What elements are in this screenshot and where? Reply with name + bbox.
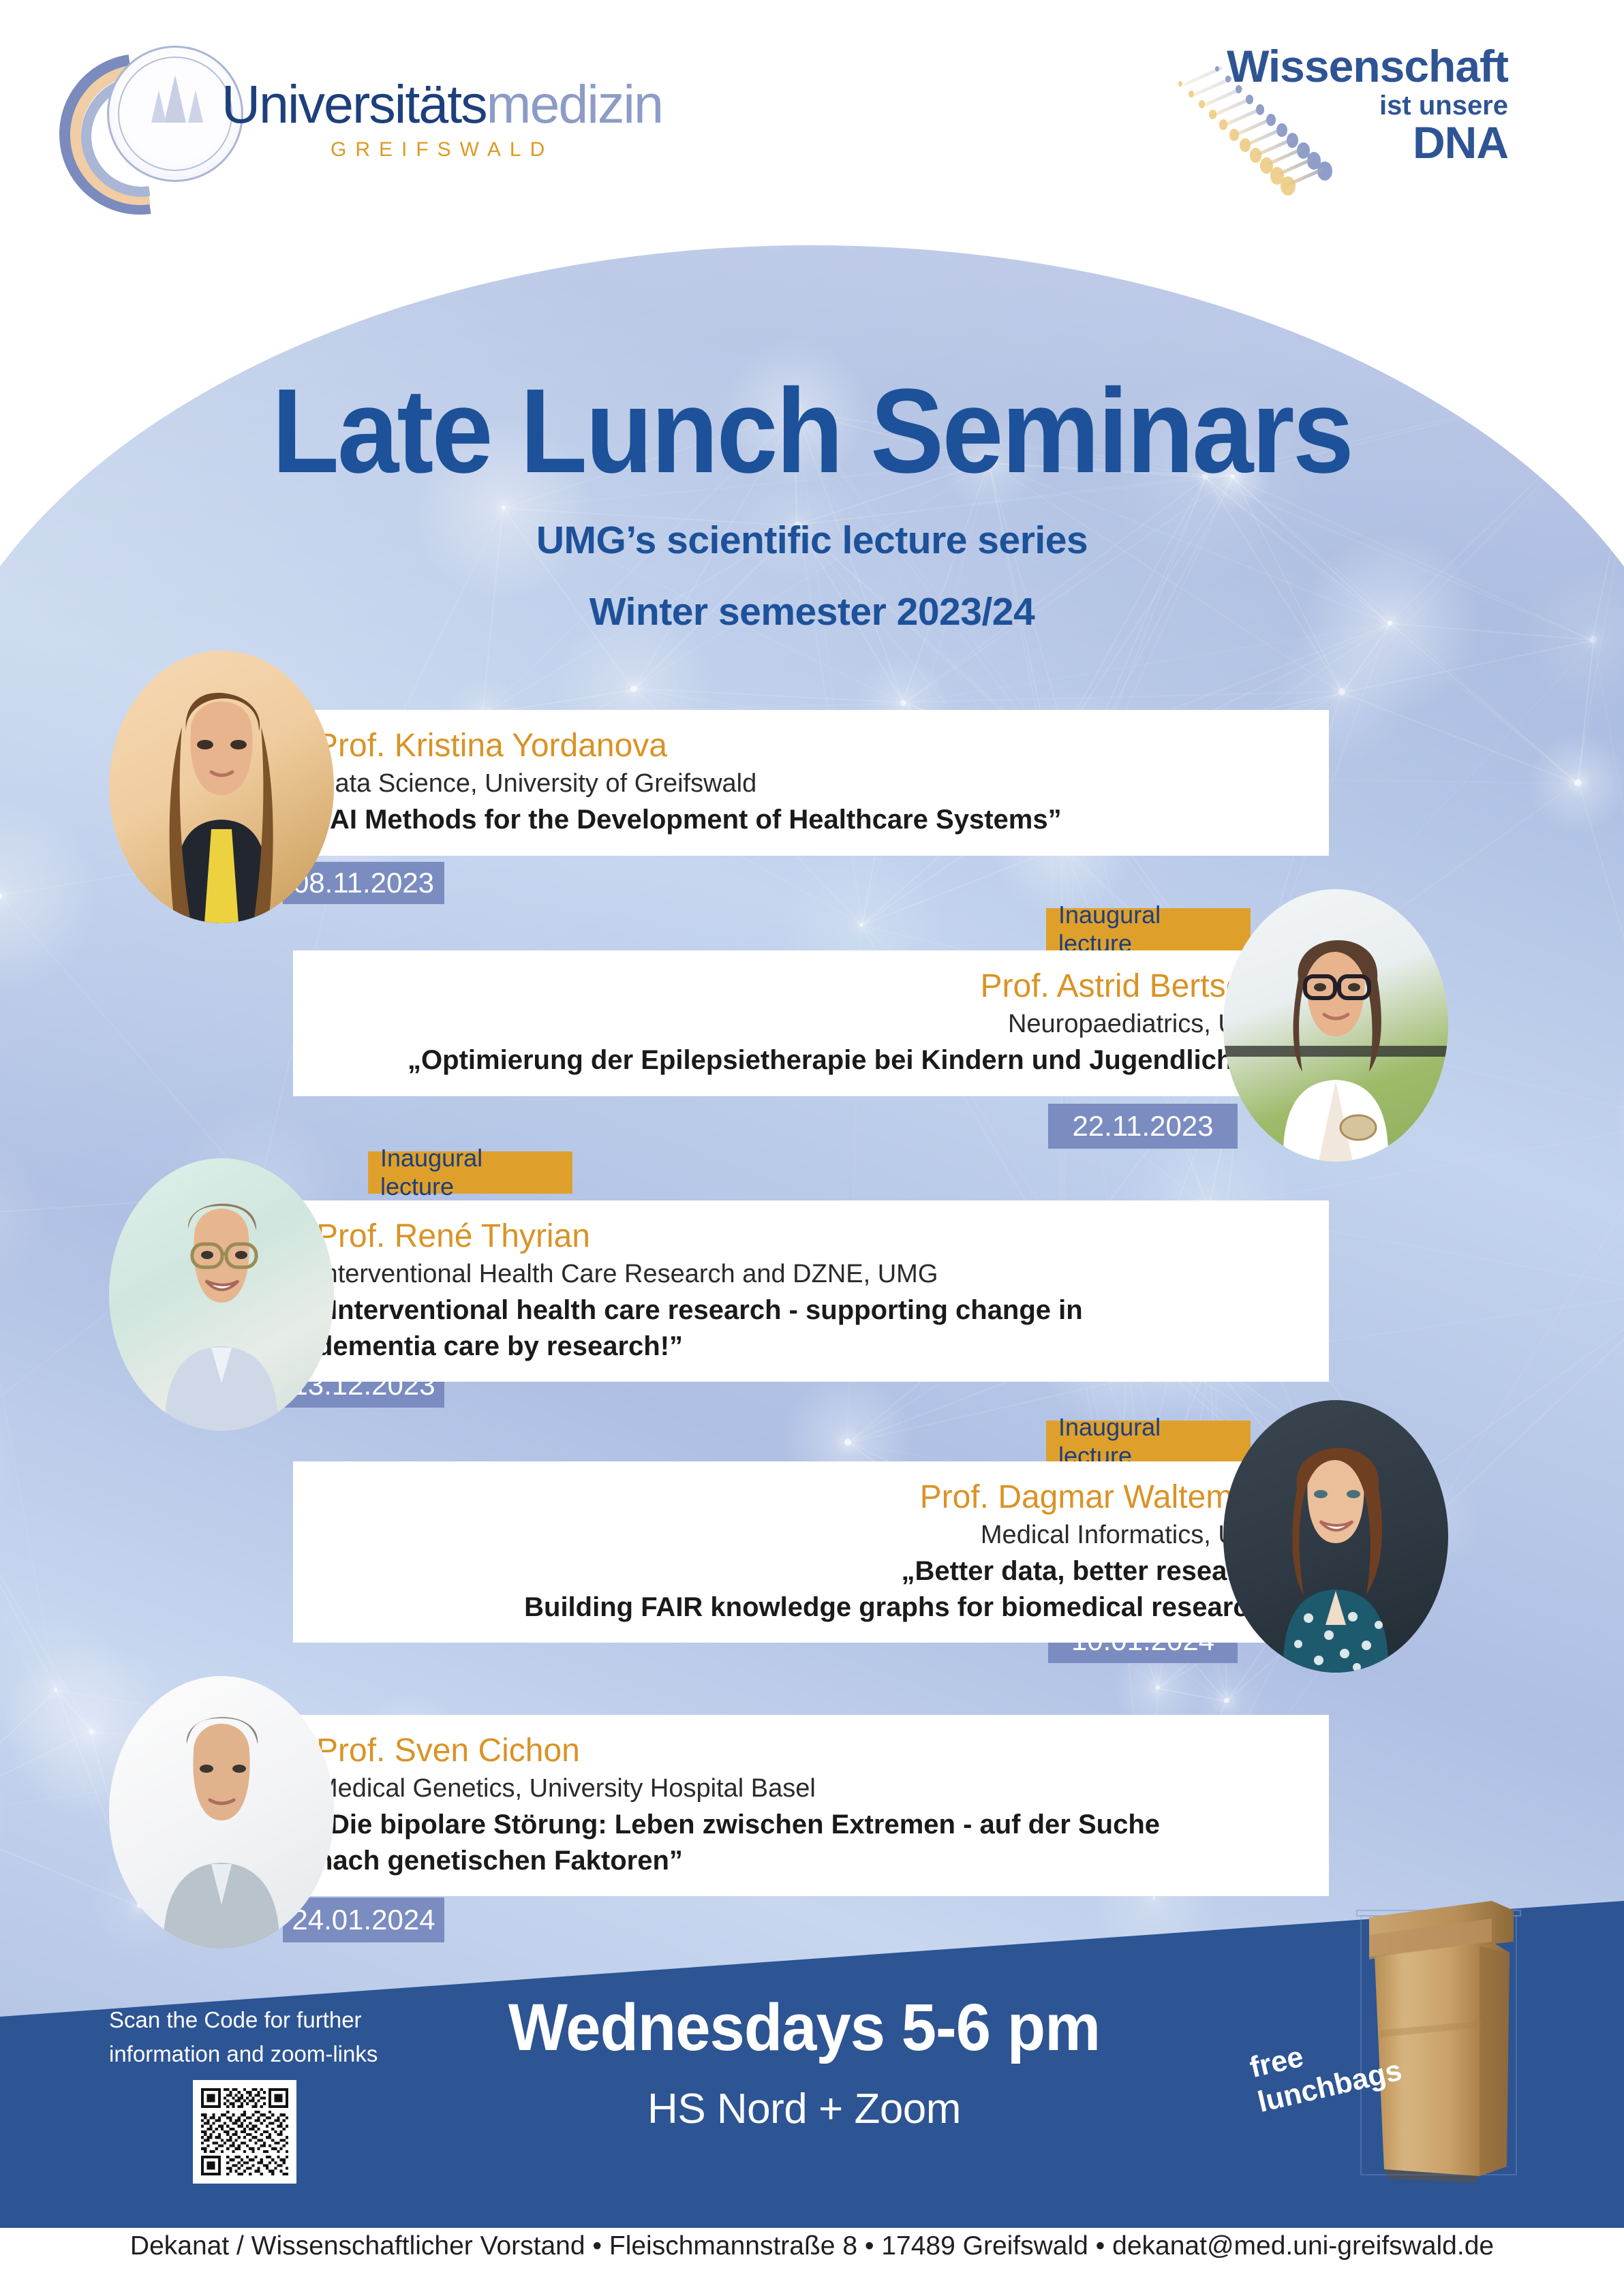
speaker-talk-title-line1: „Interventional health care research - s… — [316, 1292, 1299, 1329]
schedule-time: Wednesdays 5-6 pm — [448, 1989, 1161, 2066]
speaker-talk-title: “AI Methods for the Development of Healt… — [316, 802, 1299, 838]
dna-line3: DNA — [1413, 117, 1508, 168]
speaker-name: Prof. Sven Cichon — [316, 1730, 1299, 1771]
speaker-card-1: Prof. Kristina Yordanova Data Science, U… — [286, 710, 1329, 856]
inaugural-badge-4: Inaugural lecture — [1046, 1421, 1251, 1463]
dna-helix-icon — [1180, 78, 1330, 187]
inaugural-badge-3: Inaugural lecture — [368, 1151, 572, 1194]
umg-logo-part2: medizin — [487, 74, 662, 134]
network-node — [859, 923, 863, 927]
scan-line1: Scan the Code for further — [109, 2003, 395, 2037]
schedule-venue: HS Nord + Zoom — [429, 2085, 1179, 2133]
portrait-speaker-1 — [109, 651, 334, 923]
speaker-talk-title-line2: nach genetischen Faktoren” — [316, 1843, 1299, 1879]
date-badge-2: 22.11.2023 — [1048, 1104, 1238, 1149]
dna-line1: Wissenschaft — [1227, 40, 1508, 92]
speaker-card-3: Prof. René Thyrian Interventional Health… — [286, 1200, 1329, 1382]
dna-claim-logo: Wissenschaft ist unsere DNA — [1173, 37, 1548, 187]
speaker-talk-title: „Optimierung der Epilepsietherapie bei K… — [323, 1042, 1278, 1079]
network-glow — [1518, 564, 1624, 715]
umg-logo-part1: Universitäts — [221, 74, 487, 134]
speaker-affiliation: Neuropaediatrics, UMG — [323, 1007, 1278, 1042]
dna-dot-gold — [1178, 81, 1182, 87]
contact-footer: Dekanat / Wissenschaftlicher Vorstand • … — [0, 2231, 1624, 2261]
portrait-speaker-3 — [109, 1158, 334, 1431]
speaker-card-2: Prof. Astrid Bertsche Neuropaediatrics, … — [293, 950, 1308, 1096]
speaker-talk-title-line1: „Better data, better research: — [323, 1553, 1278, 1589]
network-glow — [1570, 294, 1624, 452]
network-node — [502, 506, 506, 510]
speaker-name: Prof. Kristina Yordanova — [316, 725, 1299, 766]
scan-line2: information and zoom-links — [109, 2037, 395, 2071]
speaker-name: Prof. René Thyrian — [316, 1215, 1299, 1257]
qr-code-icon — [198, 2085, 291, 2178]
speaker-name: Prof. Astrid Bertsche — [323, 965, 1278, 1007]
network-line — [1578, 782, 1624, 1121]
umg-logo-wordmark: Universitätsmedizin — [221, 77, 662, 131]
umg-logo: Universitätsmedizin GREIFSWALD — [65, 51, 555, 181]
network-glow — [1611, 1055, 1624, 1188]
umg-logo-city: GREIFSWALD — [331, 138, 553, 161]
network-node — [1224, 1698, 1229, 1703]
speaker-affiliation: Interventional Health Care Research and … — [316, 1257, 1299, 1292]
speaker-card-5: Prof. Sven Cichon Medical Genetics, Univ… — [286, 1715, 1329, 1896]
network-node — [1574, 779, 1582, 787]
network-glow — [0, 1136, 48, 1293]
speaker-card-4: Prof. Dagmar Waltemath Medical Informati… — [293, 1461, 1308, 1643]
speaker-name: Prof. Dagmar Waltemath — [323, 1476, 1278, 1518]
portrait-speaker-2 — [1223, 889, 1448, 1162]
inaugural-badge-2: Inaugural lecture — [1046, 908, 1251, 950]
semester-label: Winter semester 2023/24 — [0, 589, 1624, 634]
speaker-talk-title-line1: „Die bipolare Störung: Leben zwischen Ex… — [316, 1807, 1299, 1843]
speaker-talk-title-line2: dementia care by research!” — [316, 1329, 1299, 1365]
speaker-affiliation: Medical Informatics, UMG — [323, 1518, 1278, 1553]
speaker-affiliation: Data Science, University of Greifswald — [316, 766, 1299, 801]
scan-instruction: Scan the Code for further information an… — [109, 2003, 395, 2070]
network-node — [54, 1688, 57, 1691]
portrait-speaker-5 — [109, 1676, 334, 1949]
network-glow — [0, 796, 99, 997]
portrait-speaker-4 — [1223, 1400, 1448, 1673]
page-title: Late Lunch Seminars — [65, 371, 1559, 491]
speaker-talk-title-line2: Building FAIR knowledge graphs for biome… — [323, 1589, 1278, 1626]
qr-code[interactable] — [193, 2080, 296, 2184]
speaker-affiliation: Medical Genetics, University Hospital Ba… — [316, 1771, 1299, 1806]
network-node — [844, 1439, 851, 1446]
page-subtitle: UMG’s scientific lecture series — [0, 518, 1624, 563]
network-node — [1152, 1897, 1156, 1900]
network-node — [900, 700, 906, 705]
